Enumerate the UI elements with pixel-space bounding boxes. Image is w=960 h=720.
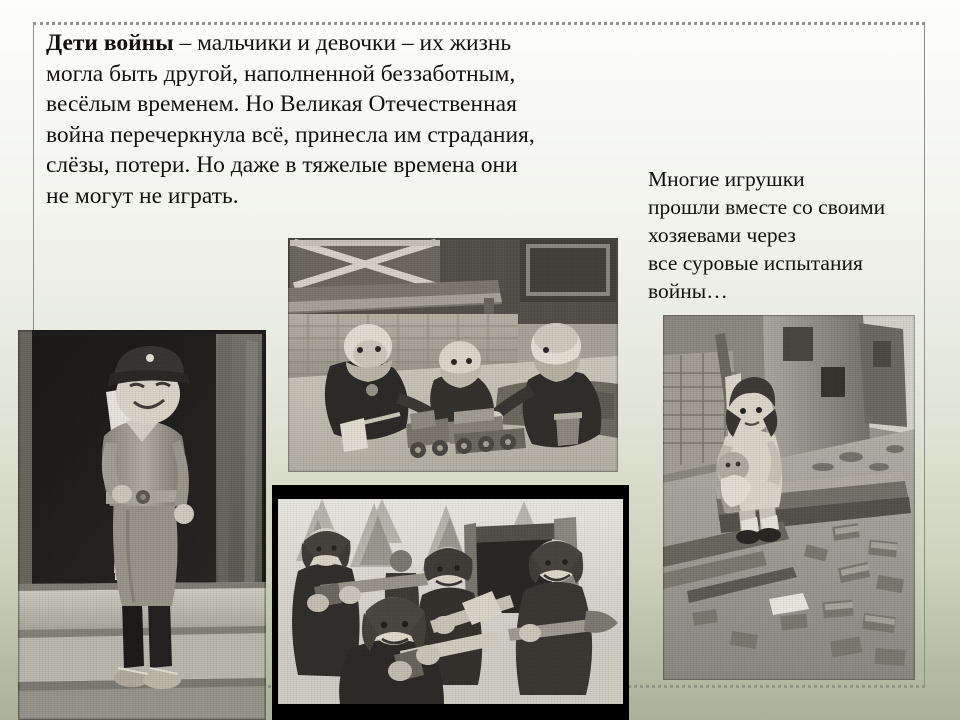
main-text-block: Дети войны – мальчики и девочки – их жиз… bbox=[46, 28, 546, 211]
photo-rifles-inner bbox=[278, 499, 623, 704]
photo-boy-with-toy-rifle bbox=[18, 330, 266, 720]
photo-train-illustration bbox=[288, 238, 618, 472]
photo-rifles-illustration bbox=[278, 499, 623, 704]
photo-children-with-toy-train bbox=[288, 238, 618, 472]
photo-doll-illustration bbox=[663, 315, 915, 680]
side-text-block: Многие игрушки прошли вместе со своими х… bbox=[648, 166, 948, 306]
main-text-body: – мальчики и девочки – их жизнь могла бы… bbox=[46, 30, 535, 209]
photo-girl-with-doll-in-ruins bbox=[663, 315, 915, 680]
main-text-lead: Дети войны bbox=[46, 30, 174, 56]
photo-children-with-wooden-rifles bbox=[272, 485, 629, 720]
slide-canvas: Дети войны – мальчики и девочки – их жиз… bbox=[0, 0, 960, 720]
photo-boy-illustration bbox=[18, 330, 266, 720]
